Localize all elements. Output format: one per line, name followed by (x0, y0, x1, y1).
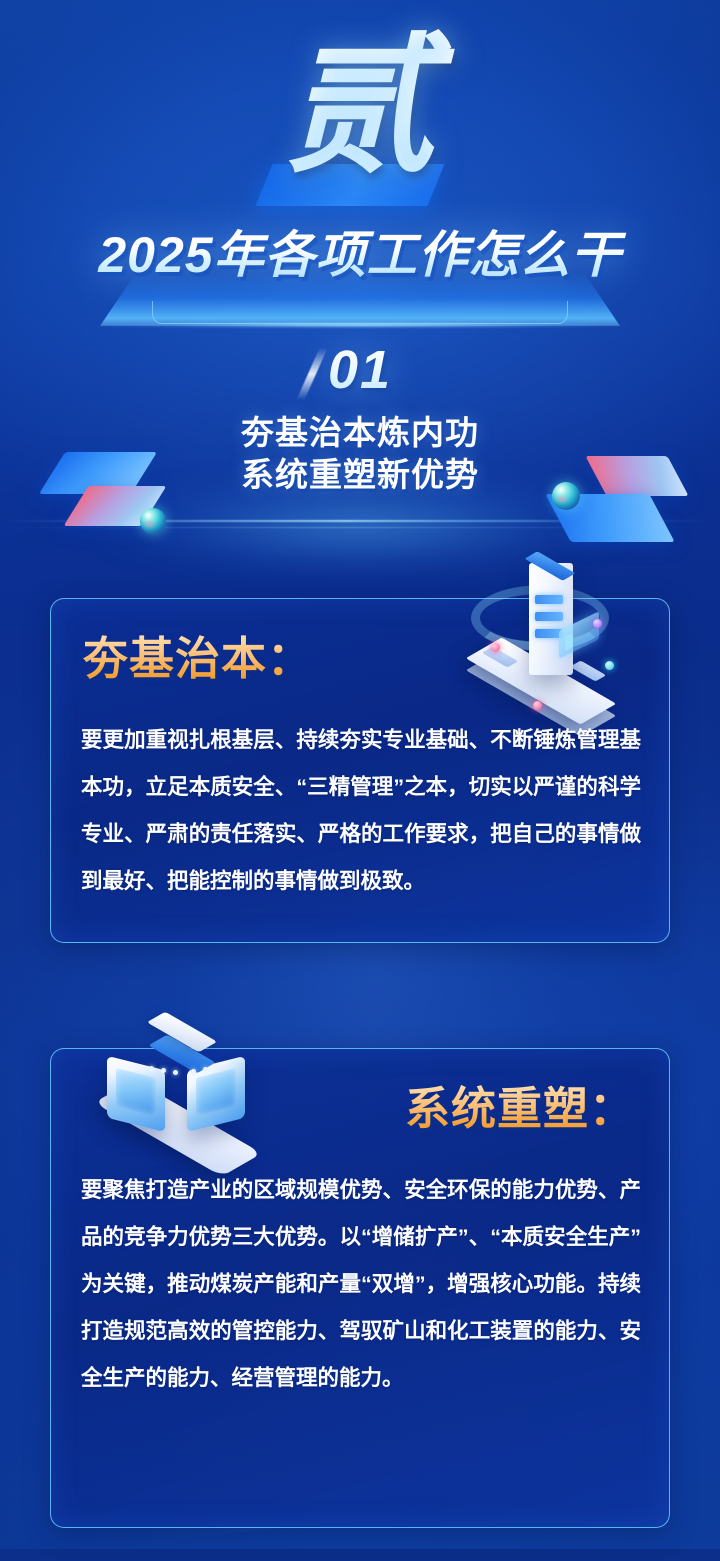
isometric-data-tower-illustration (445, 555, 635, 730)
accent-dot-icon (533, 701, 542, 710)
floating-orb-icon (140, 508, 166, 534)
content-card-restructuring: 系统重塑： 要聚焦打造产业的区域规模优势、安全环保的能力优势、产品的竞争力优势三… (50, 1048, 670, 1528)
tower-slot-icon (535, 595, 563, 604)
isometric-server-cluster-illustration (81, 1011, 276, 1186)
floating-orb-icon (552, 482, 580, 510)
tower-side-cube-icon (570, 661, 606, 682)
accent-dot-icon (491, 643, 500, 652)
card-heading-foundation: 夯基治本： (83, 631, 313, 687)
decoration-cluster-left (48, 446, 218, 546)
section-number: 01 (0, 340, 720, 400)
accent-dot-icon (593, 619, 602, 628)
page-title: 2025年各项工作怎么干 (0, 224, 720, 286)
content-card-foundation: 夯基治本： 要更加重视扎根基层、持续夯实专业基础、不断锤炼管理基本功，立足本质安… (50, 598, 670, 943)
hero-ordinal-block: 贰 (0, 24, 720, 214)
tower-slot-icon (535, 612, 563, 621)
floating-plate-pink-icon (585, 456, 688, 496)
server-status-leds-icon (147, 1063, 217, 1071)
title-plate-glow-edge (100, 322, 620, 328)
card-body-foundation: 要更加重视扎根基层、持续夯实专业基础、不断锤炼管理基本功，立足本质安全、“三精管… (81, 717, 641, 905)
card-body-restructuring: 要聚焦打造产业的区域规模优势、安全环保的能力优势、产品的竞争力优势三大优势。以“… (81, 1167, 641, 1402)
ordinal-character: 贰 (0, 24, 720, 192)
main-title-block: 2025年各项工作怎么干 (0, 224, 720, 320)
decoration-cluster-right (514, 446, 684, 556)
accent-dot-icon (605, 661, 614, 670)
card-heading-restructuring: 系统重塑： (405, 1081, 635, 1137)
